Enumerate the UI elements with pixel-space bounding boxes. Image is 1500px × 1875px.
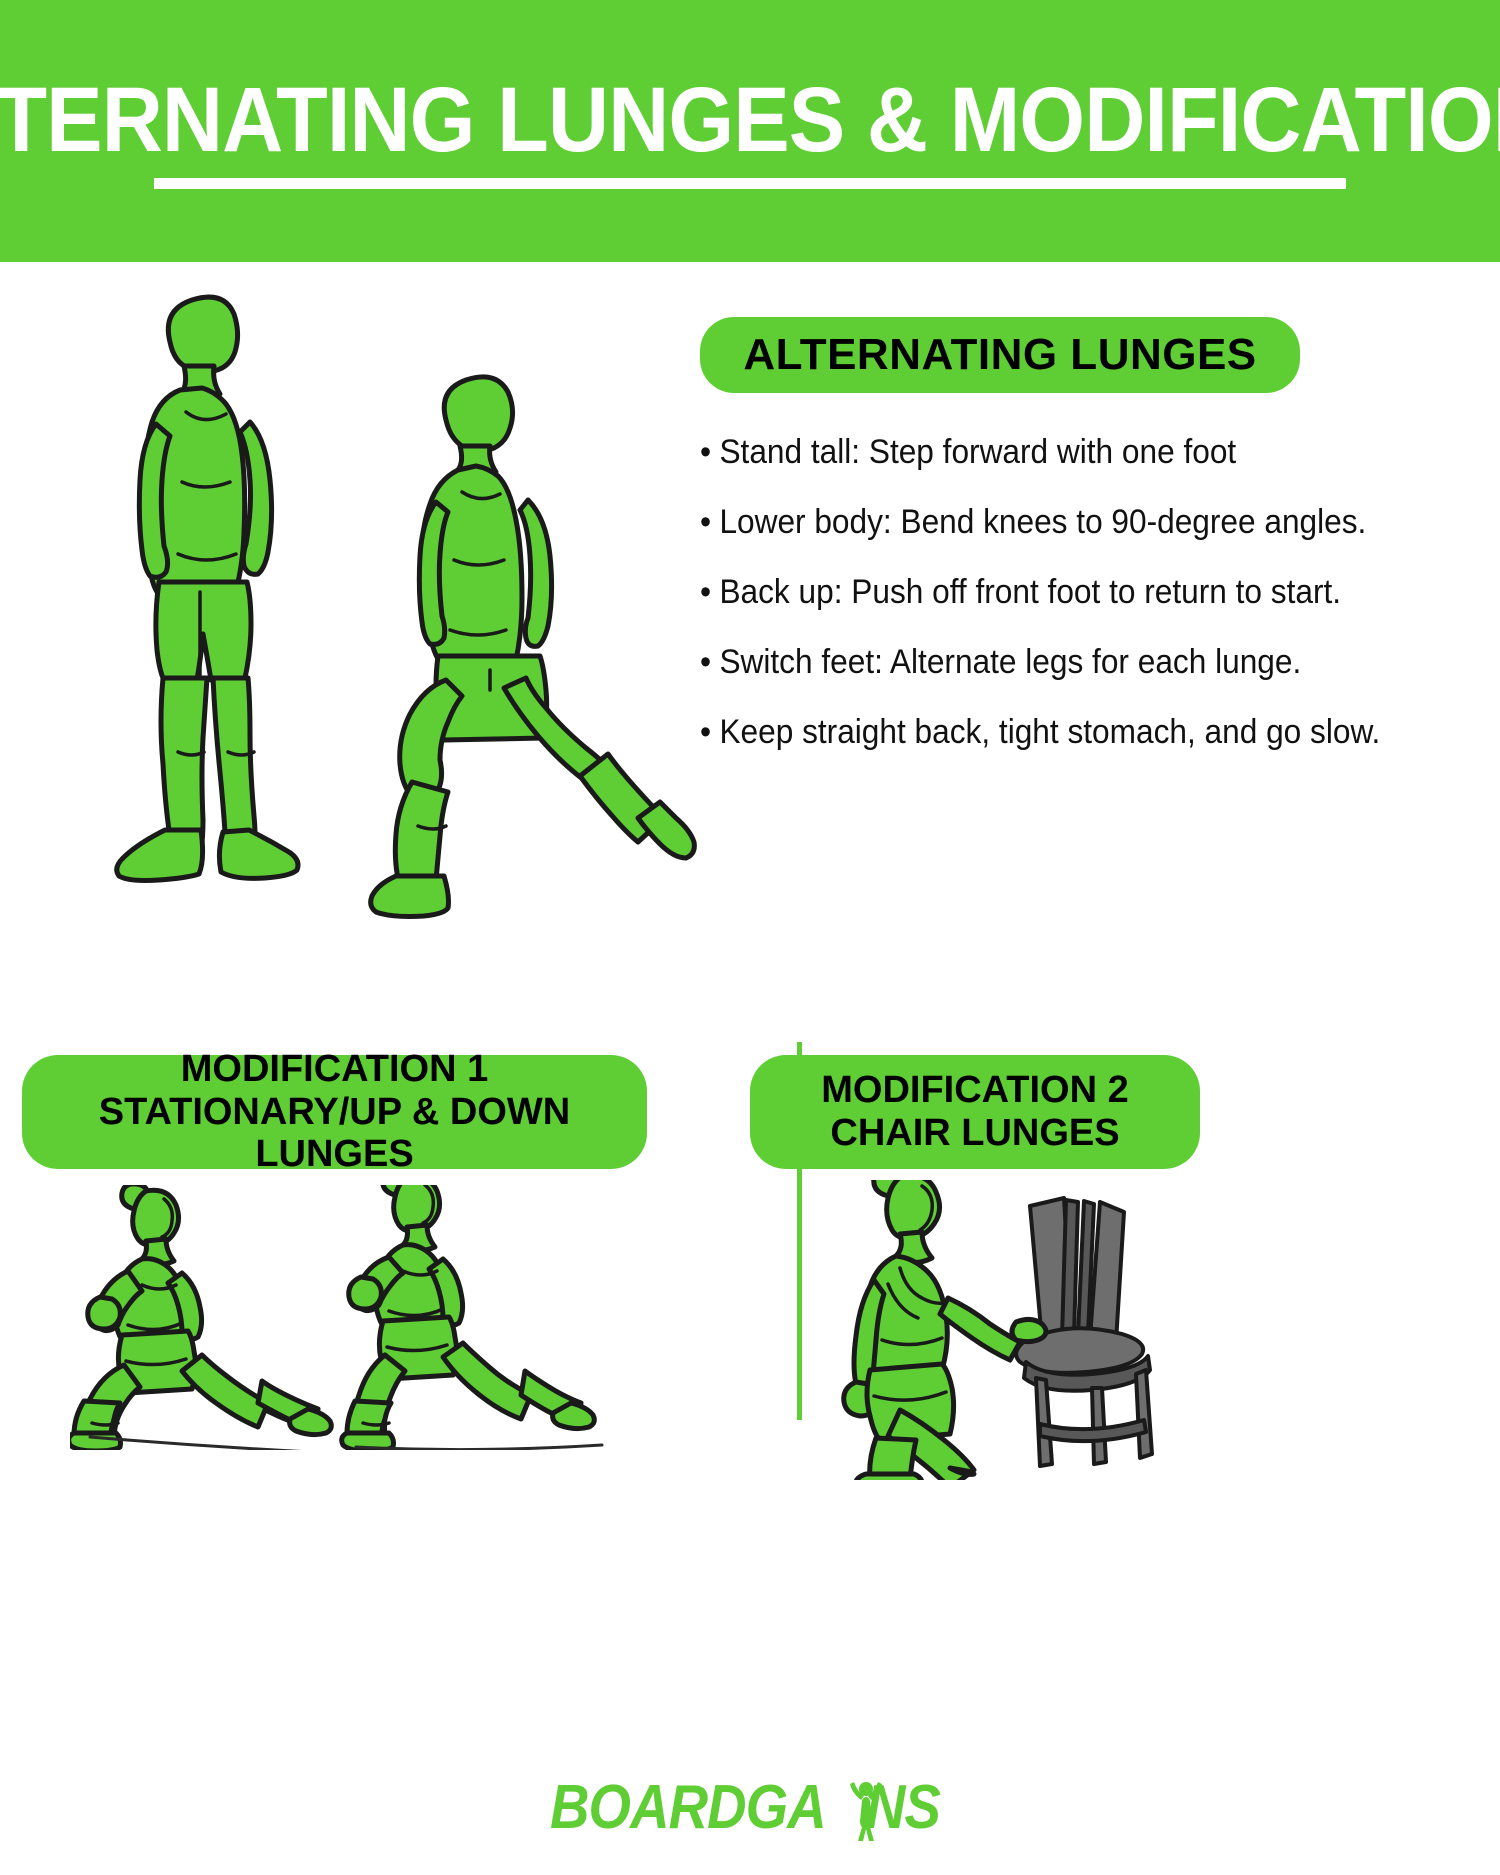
bullet-marker: • (700, 715, 711, 749)
alternating-lunges-title-pill: ALTERNATING LUNGES (700, 317, 1300, 393)
section-modification-2: MODIFICATION 2 CHAIR LUNGES (790, 1035, 1500, 1455)
footer-logo-area: BOARDGA NS (0, 1740, 1500, 1875)
woman-lunge-down-figure (70, 1185, 331, 1450)
bullet-marker: • (700, 505, 711, 539)
alternating-lunges-panel: ALTERNATING LUNGES •Stand tall: Step for… (700, 317, 1440, 785)
modification-2-line-1: MODIFICATION 2 (821, 1069, 1129, 1112)
bullet-marker: • (700, 645, 711, 679)
lunging-man-figure (371, 377, 695, 917)
logo-text-part-1: BOARDGA (550, 1772, 826, 1843)
modification-2-figure-svg (800, 1180, 1360, 1480)
woman-chair-lunge-figure (844, 1180, 1046, 1480)
list-item: •Back up: Push off front foot to return … (700, 575, 1388, 609)
modification-1-illustration (70, 1185, 630, 1450)
ground-line-left (90, 1437, 330, 1450)
modification-2-illustration (800, 1180, 1360, 1470)
alternating-lunges-illustration (60, 282, 700, 922)
title-underline (154, 178, 1346, 189)
alternating-figures-svg (60, 282, 700, 922)
modification-1-title-pill: MODIFICATION 1 STATIONARY/UP & DOWN LUNG… (22, 1055, 647, 1169)
page-title: ALTERNATING LUNGES & MODIFICATIONS (0, 74, 1500, 172)
alternating-lunges-bullet-list: •Stand tall: Step forward with one foot … (700, 435, 1440, 749)
bullet-text: Switch feet: Alternate legs for each lun… (719, 643, 1301, 681)
list-item: •Switch feet: Alternate legs for each lu… (700, 645, 1388, 679)
modification-2-title-pill: MODIFICATION 2 CHAIR LUNGES (750, 1055, 1200, 1169)
infographic-page: ALTERNATING LUNGES & MODIFICATIONS (0, 0, 1500, 1875)
bullet-text: Stand tall: Step forward with one foot (719, 433, 1236, 471)
bullet-text: Lower body: Bend knees to 90-degree angl… (719, 503, 1366, 541)
logo-text-part-2: NS (866, 1772, 940, 1843)
bullet-marker: • (700, 575, 711, 609)
modification-2-line-2: CHAIR LUNGES (830, 1112, 1119, 1155)
bullet-marker: • (700, 435, 711, 469)
woman-lunge-up-figure (342, 1185, 595, 1450)
standing-man-figure (117, 297, 298, 880)
modification-1-line-2: STATIONARY/UP & DOWN LUNGES (22, 1091, 647, 1176)
list-item: •Keep straight back, tight stomach, and … (700, 715, 1388, 749)
bullet-text: Keep straight back, tight stomach, and g… (719, 713, 1380, 751)
list-item: •Lower body: Bend knees to 90-degree ang… (700, 505, 1388, 539)
bullet-text: Back up: Push off front foot to return t… (719, 573, 1341, 611)
modification-1-line-1: MODIFICATION 1 (181, 1048, 489, 1091)
header-banner: ALTERNATING LUNGES & MODIFICATIONS (0, 0, 1500, 262)
list-item: •Stand tall: Step forward with one foot (700, 435, 1388, 469)
section-modification-1: MODIFICATION 1 STATIONARY/UP & DOWN LUNG… (0, 1035, 790, 1455)
modification-1-figures-svg (70, 1185, 630, 1450)
brand-logo: BOARDGA NS (550, 1772, 949, 1843)
section-alternating-lunges: ALTERNATING LUNGES •Stand tall: Step for… (0, 262, 1500, 1022)
